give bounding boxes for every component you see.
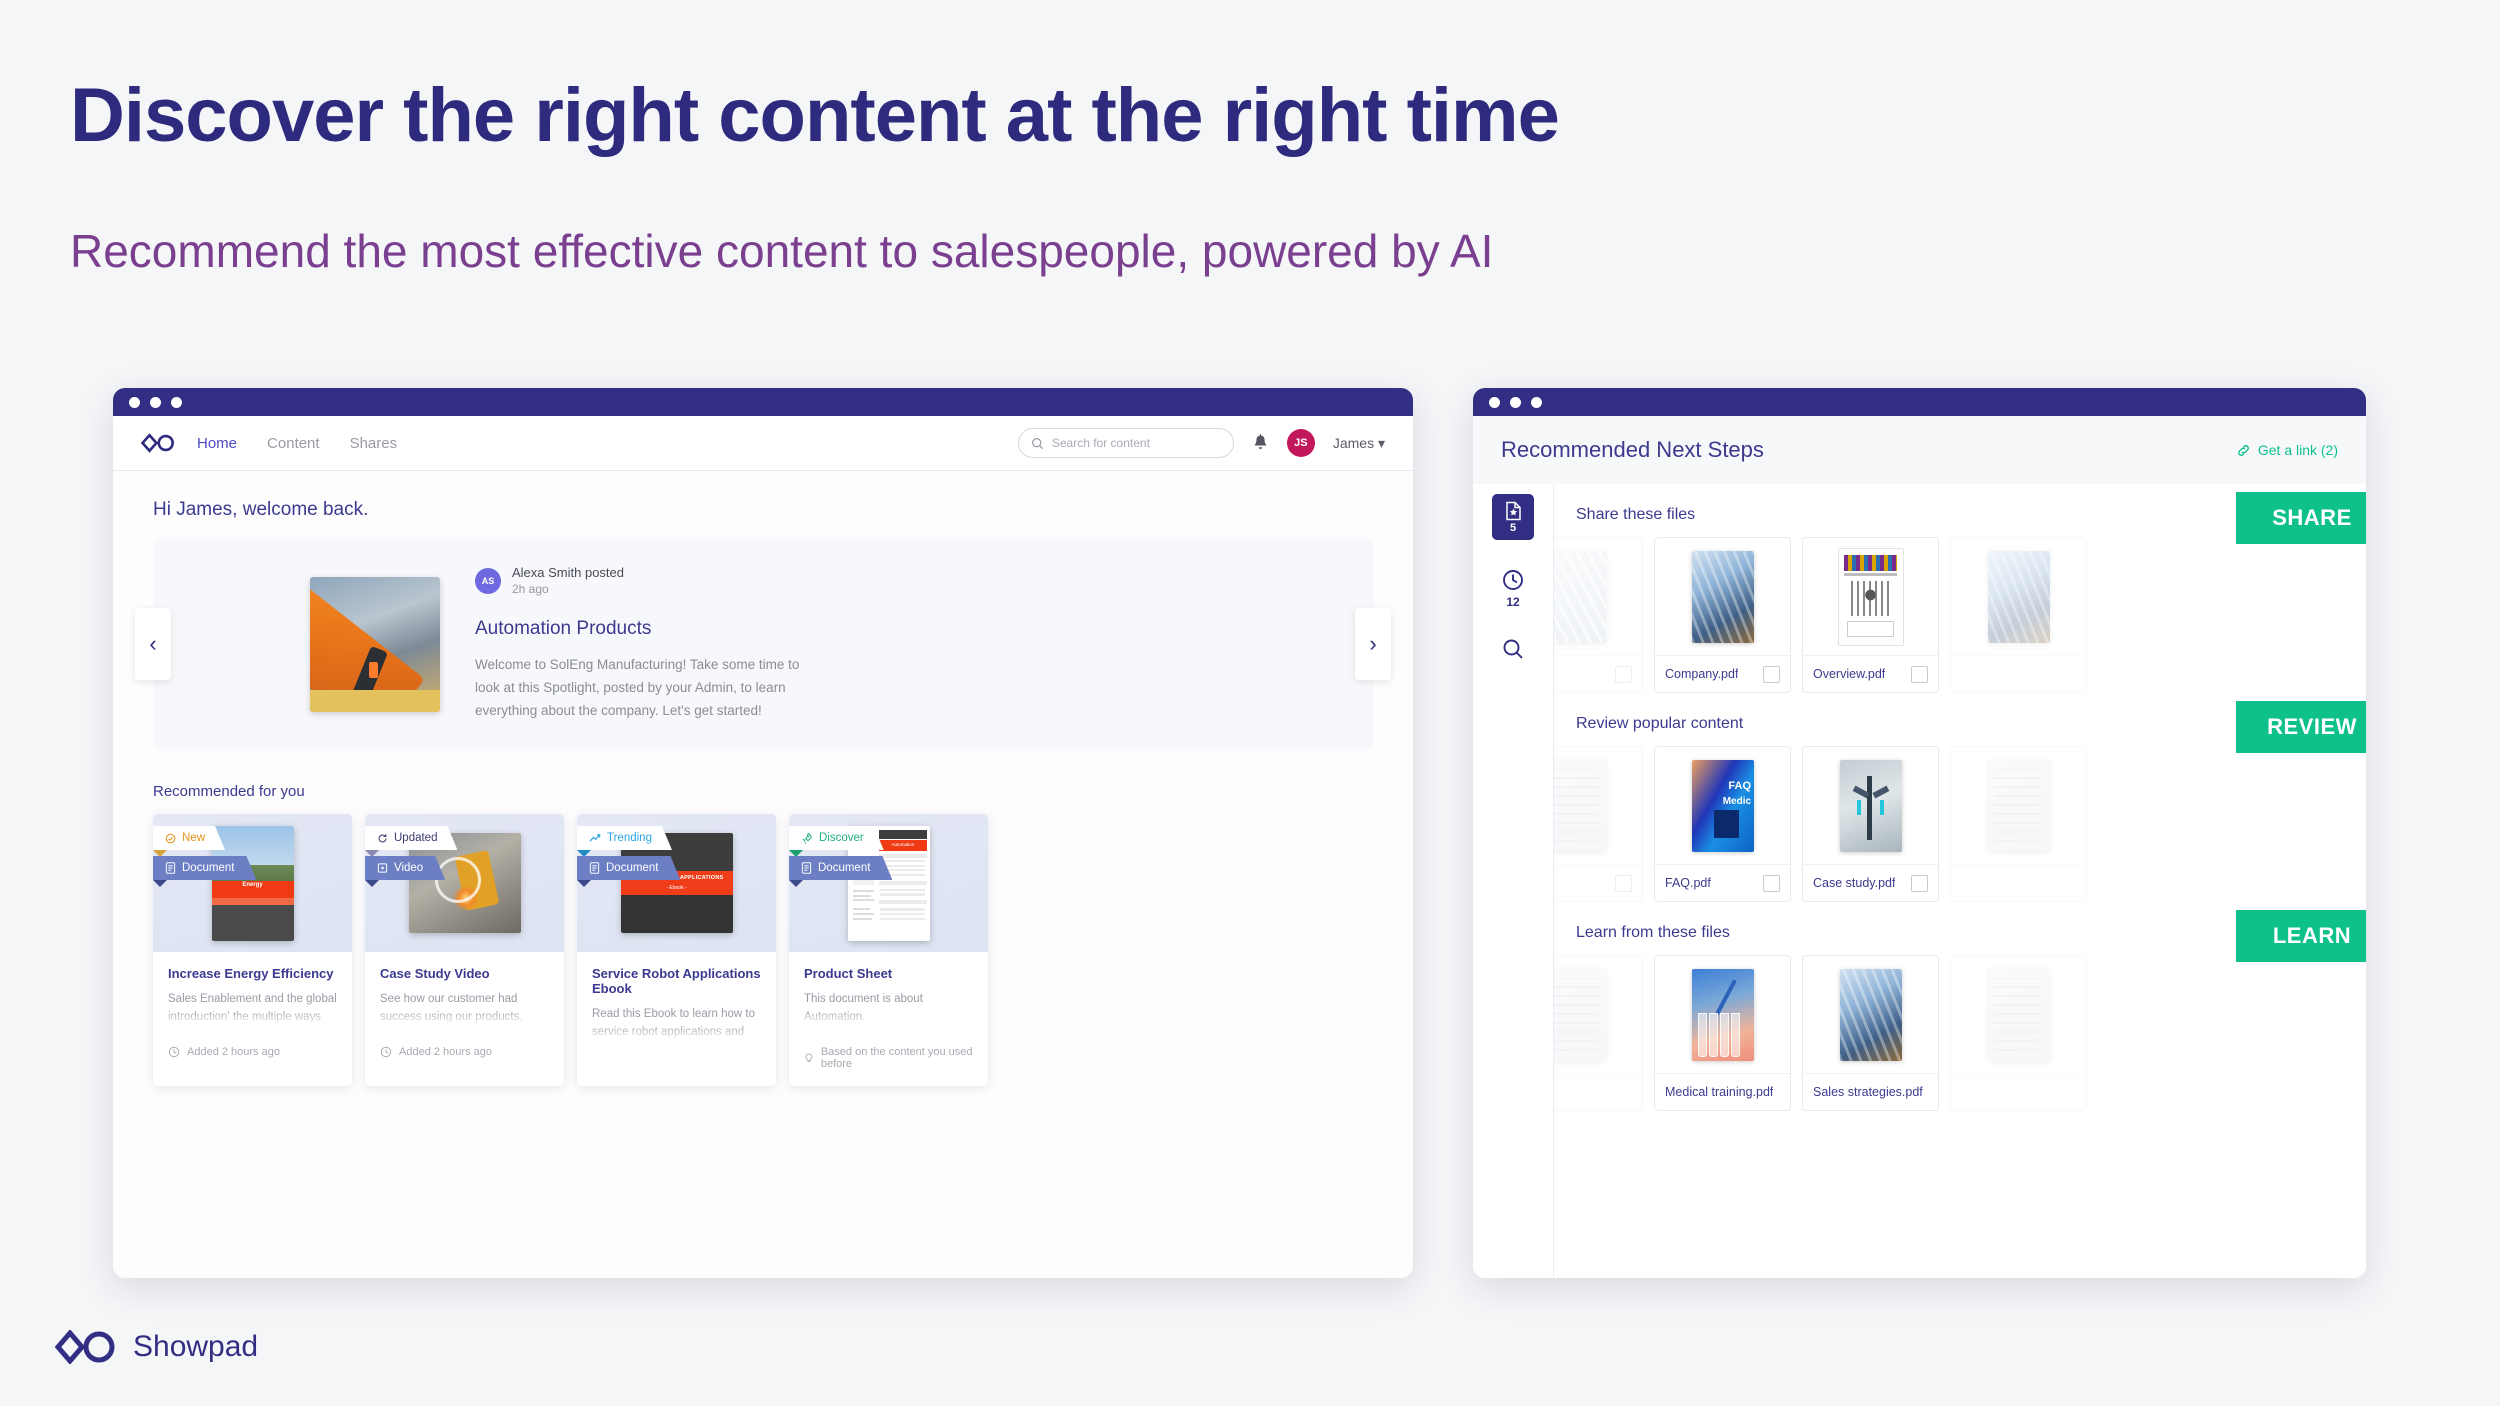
refresh-icon bbox=[377, 833, 388, 844]
card-status-badge: New bbox=[153, 826, 225, 850]
search-icon bbox=[1031, 437, 1044, 450]
file-footer: Case study.pdf bbox=[1803, 864, 1938, 901]
lightbulb-icon bbox=[804, 1052, 814, 1065]
file-thumbnail-area bbox=[1803, 747, 1938, 864]
file-thumbnail bbox=[1692, 969, 1754, 1061]
file-card[interactable] bbox=[1950, 746, 2087, 902]
card-status-label: Updated bbox=[394, 832, 437, 844]
file-thumbnail-area bbox=[1951, 538, 2086, 655]
card-status-label: Trending bbox=[607, 832, 652, 844]
showpad-logo-icon bbox=[55, 1330, 117, 1364]
file-checkbox[interactable] bbox=[1911, 875, 1928, 892]
card-meta-label: Added 2 hours ago bbox=[399, 1046, 492, 1058]
ribbon-fold-top bbox=[789, 850, 803, 857]
clock-icon bbox=[168, 1046, 180, 1058]
file-footer: Medical training.pdf bbox=[1655, 1073, 1790, 1110]
search-input[interactable]: Search for content bbox=[1018, 428, 1234, 458]
file-thumbnail-area: FAQMedic bbox=[1655, 747, 1790, 864]
bell-icon[interactable] bbox=[1252, 434, 1269, 453]
file-thumbnail-area bbox=[1655, 538, 1790, 655]
card-body: Product Sheet This document is about Aut… bbox=[789, 952, 988, 1086]
poster-avatar: AS bbox=[475, 568, 501, 594]
recommended-section-title: Recommended for you bbox=[153, 783, 1373, 800]
file-thumbnail-area bbox=[1951, 956, 2086, 1073]
file-card[interactable]: FAQMedic FAQ.pdf bbox=[1654, 746, 1791, 902]
file-footer: Overview.pdf bbox=[1803, 655, 1938, 692]
file-thumbnail-area bbox=[1803, 538, 1938, 655]
showpad-logo-icon[interactable] bbox=[141, 433, 175, 453]
file-card[interactable] bbox=[1950, 537, 2087, 693]
card-thumbnail-area: Trending Document bbox=[577, 814, 776, 952]
sidebar-item-search[interactable] bbox=[1501, 637, 1525, 661]
footer-brand: Showpad bbox=[55, 1330, 258, 1364]
file-card[interactable]: Company.pdf bbox=[1654, 537, 1791, 693]
ribbon-fold-top bbox=[153, 850, 167, 857]
card-type-badge: Video bbox=[365, 856, 445, 880]
card-thumbnail-area: New Document bbox=[153, 814, 352, 952]
document-icon bbox=[589, 862, 600, 874]
content-card[interactable]: Updated Video bbox=[365, 814, 564, 1086]
video-icon bbox=[377, 862, 388, 874]
file-name: Sales strategies.pdf bbox=[1813, 1085, 1923, 1099]
poster-timestamp: 2h ago bbox=[512, 582, 624, 596]
card-type-label: Document bbox=[606, 862, 658, 874]
window-dot-close[interactable] bbox=[129, 397, 140, 408]
file-thumbnail: FAQMedic bbox=[1692, 760, 1754, 852]
file-footer: Company.pdf bbox=[1655, 655, 1790, 692]
file-thumbnail bbox=[1840, 760, 1902, 852]
card-type-label: Document bbox=[182, 862, 234, 874]
next-steps-section: Review popular content REVIEW bbox=[1576, 715, 2366, 902]
greeting-text: Hi James, welcome back. bbox=[153, 471, 1373, 539]
file-thumbnail bbox=[1988, 969, 2050, 1061]
card-status-label: New bbox=[182, 832, 205, 844]
file-footer bbox=[1554, 655, 1642, 692]
file-row: Company.pdf Overview.pdf bbox=[1576, 537, 2366, 693]
card-title: Product Sheet bbox=[804, 966, 973, 981]
file-name: Medical training.pdf bbox=[1665, 1085, 1773, 1099]
link-icon bbox=[2236, 443, 2251, 458]
clock-icon bbox=[380, 1046, 392, 1058]
card-type-badge: Document bbox=[153, 856, 256, 880]
window-dot-close[interactable] bbox=[1489, 397, 1500, 408]
share-action-button[interactable]: SHARE bbox=[2236, 492, 2366, 544]
card-meta: Added 2 hours ago bbox=[168, 1046, 337, 1058]
rocket-icon bbox=[801, 832, 813, 844]
poster-name: Alexa Smith posted bbox=[512, 565, 624, 580]
next-steps-header: Recommended Next Steps Get a link (2) bbox=[1473, 416, 2366, 484]
file-name: Company.pdf bbox=[1665, 667, 1738, 681]
file-footer bbox=[1951, 1073, 2086, 1110]
card-type-label: Document bbox=[818, 862, 870, 874]
next-steps-sidebar: 5 12 bbox=[1473, 484, 1554, 1278]
file-name: Overview.pdf bbox=[1813, 667, 1885, 681]
file-checkbox[interactable] bbox=[1615, 666, 1632, 683]
window-titlebar bbox=[1473, 388, 2366, 416]
next-steps-title: Recommended Next Steps bbox=[1501, 437, 1764, 463]
window-dot-minimize[interactable] bbox=[150, 397, 161, 408]
spotlight-carousel: ‹ › AS Alexa Smith posted 2h ago Automat… bbox=[153, 539, 1373, 749]
get-a-link-label: Get a link (2) bbox=[2258, 442, 2338, 458]
thumbnail-caption: Automation bbox=[879, 840, 927, 849]
file-thumbnail-area bbox=[1554, 956, 1642, 1073]
spotlight-poster: AS Alexa Smith posted 2h ago bbox=[475, 565, 805, 596]
left-content-area: Hi James, welcome back. ‹ › AS Alexa Smi… bbox=[113, 471, 1413, 1278]
card-thumbnail: Energy bbox=[212, 826, 294, 941]
file-footer bbox=[1554, 1073, 1642, 1110]
left-browser-window: Home Content Shares Search for content J… bbox=[113, 388, 1413, 1278]
file-thumbnail-area bbox=[1554, 538, 1642, 655]
file-card[interactable]: Overview.pdf bbox=[1802, 537, 1939, 693]
file-card[interactable] bbox=[1554, 537, 1643, 693]
file-card[interactable] bbox=[1950, 955, 2087, 1111]
user-menu[interactable]: James ▾ bbox=[1333, 435, 1385, 452]
card-type-badge: Document bbox=[789, 856, 892, 880]
carousel-prev-button[interactable]: ‹ bbox=[135, 608, 171, 680]
file-thumbnail-area bbox=[1554, 747, 1642, 864]
learn-action-button[interactable]: LEARN bbox=[2236, 910, 2366, 962]
spotlight-image bbox=[310, 577, 440, 712]
review-action-button[interactable]: REVIEW bbox=[2236, 701, 2366, 753]
content-card[interactable]: New Document bbox=[153, 814, 352, 1086]
card-meta-label: Added 2 hours ago bbox=[187, 1046, 280, 1058]
get-a-link-button[interactable]: Get a link (2) bbox=[2236, 442, 2338, 458]
file-footer bbox=[1554, 864, 1642, 901]
file-footer: Sales strategies.pdf bbox=[1803, 1073, 1938, 1110]
trending-up-icon bbox=[589, 833, 601, 844]
card-title: Increase Energy Efficiency bbox=[168, 966, 337, 981]
card-type-label: Video bbox=[394, 862, 423, 874]
sidebar-item-recent[interactable]: 12 bbox=[1501, 568, 1525, 609]
file-card[interactable] bbox=[1554, 955, 1643, 1111]
file-thumbnail bbox=[1554, 760, 1606, 852]
thumbnail-caption: Energy bbox=[212, 882, 294, 888]
chevron-down-icon: ▾ bbox=[1378, 435, 1385, 451]
file-thumbnail bbox=[1840, 969, 1902, 1061]
card-type-badge: Document bbox=[577, 856, 680, 880]
file-thumbnail bbox=[1988, 760, 2050, 852]
document-icon bbox=[801, 862, 812, 874]
sidebar-files-count: 5 bbox=[1510, 522, 1516, 534]
file-thumbnail-area bbox=[1803, 956, 1938, 1073]
navbar-right-group: Search for content JS James ▾ bbox=[1018, 428, 1385, 458]
avatar[interactable]: JS bbox=[1287, 429, 1315, 457]
card-body: Increase Energy Efficiency Sales Enablem… bbox=[153, 952, 352, 1074]
page-subtitle: Recommend the most effective content to … bbox=[70, 224, 1493, 278]
card-status-badge: Trending bbox=[577, 826, 672, 850]
file-card[interactable] bbox=[1554, 746, 1643, 902]
sidebar-recent-count: 12 bbox=[1506, 595, 1519, 609]
search-icon bbox=[1501, 637, 1525, 661]
nav-link-shares[interactable]: Shares bbox=[350, 435, 398, 452]
user-name-label: James bbox=[1333, 435, 1374, 451]
file-thumbnail bbox=[1692, 551, 1754, 643]
card-description: Sales Enablement and the global introduc… bbox=[168, 990, 337, 1026]
nav-link-home[interactable]: Home bbox=[197, 435, 237, 452]
file-name: FAQ.pdf bbox=[1665, 876, 1711, 890]
file-thumbnail bbox=[1554, 969, 1606, 1061]
card-body: Service Robot Applications Ebook Read th… bbox=[577, 952, 776, 1077]
window-dot-maximize[interactable] bbox=[171, 397, 182, 408]
card-description: Read this Ebook to learn how to service … bbox=[592, 1005, 761, 1041]
content-card[interactable]: Trending Document bbox=[577, 814, 776, 1086]
file-row: FAQMedic FAQ.pdf bbox=[1576, 746, 2366, 902]
card-body: Case Study Video See how our customer ha… bbox=[365, 952, 564, 1074]
card-meta: Based on the content you used before bbox=[804, 1046, 973, 1070]
file-footer bbox=[1951, 655, 2086, 692]
ribbon-fold-top bbox=[365, 850, 379, 857]
starred-file-icon bbox=[1504, 501, 1523, 521]
right-browser-window: Recommended Next Steps Get a link (2) bbox=[1473, 388, 2366, 1278]
recommended-card-list: New Document bbox=[153, 814, 1373, 1086]
thumbnail-subcaption: - Ebook - bbox=[621, 885, 733, 891]
ribbon-fold bbox=[153, 880, 167, 887]
window-dot-maximize[interactable] bbox=[1531, 397, 1542, 408]
search-placeholder-text: Search for content bbox=[1052, 436, 1150, 450]
ribbon-fold-top bbox=[577, 850, 591, 857]
ribbon-fold bbox=[789, 880, 803, 887]
card-title: Service Robot Applications Ebook bbox=[592, 966, 761, 996]
file-checkbox[interactable] bbox=[1763, 666, 1780, 683]
card-status-label: Discover bbox=[819, 832, 864, 844]
nav-link-content[interactable]: Content bbox=[267, 435, 320, 452]
file-thumbnail bbox=[1838, 548, 1904, 646]
window-dot-minimize[interactable] bbox=[1510, 397, 1521, 408]
card-status-badge: Discover bbox=[789, 826, 884, 850]
clock-icon bbox=[1501, 568, 1525, 592]
content-card[interactable]: Discover Document bbox=[789, 814, 988, 1086]
file-footer: FAQ.pdf bbox=[1655, 864, 1790, 901]
file-footer bbox=[1951, 864, 2086, 901]
file-checkbox[interactable] bbox=[1615, 875, 1632, 892]
card-title: Case Study Video bbox=[380, 966, 549, 981]
next-steps-body: 5 12 bbox=[1473, 484, 2366, 1278]
file-checkbox[interactable] bbox=[1911, 666, 1928, 683]
card-description: See how our customer had success using o… bbox=[380, 990, 549, 1026]
file-card[interactable]: Case study.pdf bbox=[1802, 746, 1939, 902]
ribbon-fold bbox=[365, 880, 379, 887]
carousel-next-button[interactable]: › bbox=[1355, 608, 1391, 680]
spotlight-text-block: AS Alexa Smith posted 2h ago Automation … bbox=[475, 565, 805, 723]
card-thumbnail-area: Updated Video bbox=[365, 814, 564, 952]
card-thumbnail-area: Discover Document bbox=[789, 814, 988, 952]
footer-brand-name: Showpad bbox=[133, 1330, 258, 1364]
file-thumbnail-area bbox=[1655, 956, 1790, 1073]
next-steps-section: Learn from these files LEARN bbox=[1576, 924, 2366, 1111]
card-meta-label: Based on the content you used before bbox=[821, 1046, 973, 1070]
page-title: Discover the right content at the right … bbox=[70, 72, 1559, 159]
next-steps-section: Share these files SHARE bbox=[1576, 506, 2366, 693]
next-steps-main: Share these files SHARE bbox=[1554, 484, 2366, 1278]
card-status-badge: Updated bbox=[365, 826, 457, 850]
page-root: Discover the right content at the right … bbox=[0, 0, 2500, 1406]
file-thumbnail-area bbox=[1951, 747, 2086, 864]
card-description: This document is about Automation. bbox=[804, 990, 973, 1026]
file-card[interactable]: Medical training.pdf bbox=[1654, 955, 1791, 1111]
spotlight-body: Welcome to SolEng Manufacturing! Take so… bbox=[475, 654, 805, 723]
sidebar-item-files[interactable]: 5 bbox=[1492, 494, 1534, 540]
file-row: Medical training.pdf Sales strategies.pd… bbox=[1576, 955, 2366, 1111]
window-titlebar bbox=[113, 388, 1413, 416]
document-icon bbox=[165, 862, 176, 874]
file-name: Case study.pdf bbox=[1813, 876, 1895, 890]
file-checkbox[interactable] bbox=[1763, 875, 1780, 892]
file-thumbnail bbox=[1554, 551, 1606, 643]
file-card[interactable]: Sales strategies.pdf bbox=[1802, 955, 1939, 1111]
file-thumbnail bbox=[1988, 551, 2050, 643]
spotlight-title: Automation Products bbox=[475, 618, 805, 640]
card-meta: Added 2 hours ago bbox=[380, 1046, 549, 1058]
new-badge-icon bbox=[165, 833, 176, 844]
app-navbar: Home Content Shares Search for content J… bbox=[113, 416, 1413, 471]
ribbon-fold bbox=[577, 880, 591, 887]
